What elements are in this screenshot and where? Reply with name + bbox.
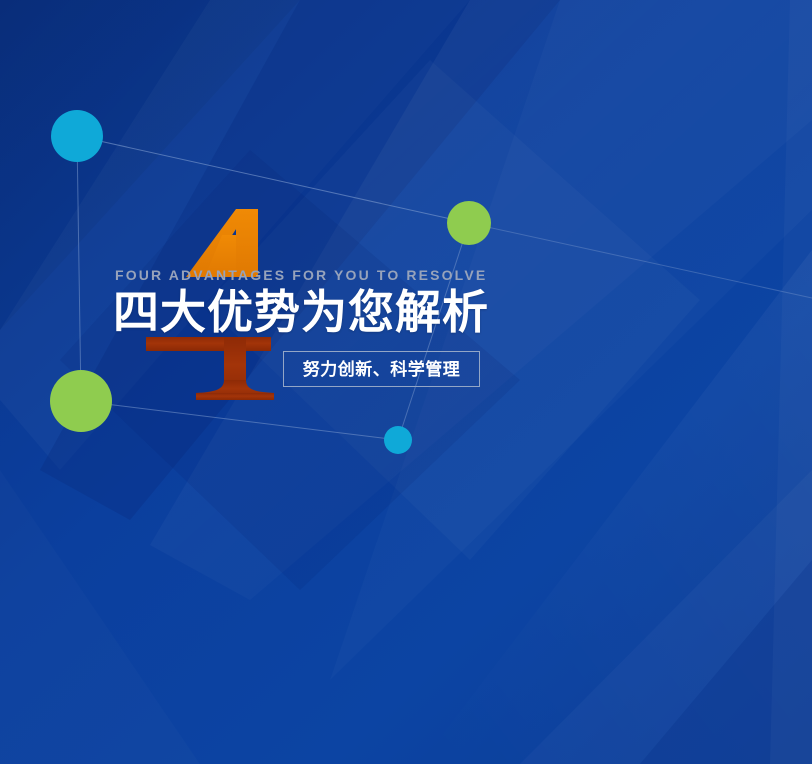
- node-bottom-right: [384, 426, 412, 454]
- headline-block: FOUR ADVANTAGES FOR YOU TO RESOLVE 四大优势为…: [113, 268, 733, 336]
- bg-shape-5: [330, 0, 812, 680]
- bg-shape-7: [520, 470, 812, 764]
- bg-edge-strip: [770, 0, 812, 764]
- edge-top-left-to-bottom-left: [77, 136, 81, 401]
- node-right: [447, 201, 491, 245]
- eyebrow-text: FOUR ADVANTAGES FOR YOU TO RESOLVE: [115, 268, 733, 282]
- page-title: 四大优势为您解析: [113, 288, 733, 336]
- tagline-text: 努力创新、科学管理: [303, 361, 461, 378]
- bg-shape-9: [0, 470, 200, 764]
- edge-bottom-left-to-bottom-right: [81, 401, 398, 440]
- node-bottom-left: [50, 370, 112, 432]
- bg-shape-3: [40, 0, 560, 520]
- edge-top-left-to-right: [77, 136, 469, 223]
- hero-banner: FOUR ADVANTAGES FOR YOU TO RESOLVE 四大优势为…: [0, 0, 812, 764]
- node-top-left: [51, 110, 103, 162]
- numeral-four-lower: [146, 337, 274, 400]
- bg-shape-2: [0, 0, 470, 470]
- bg-shape-8: [640, 560, 812, 764]
- tagline-box: 努力创新、科学管理: [283, 351, 480, 387]
